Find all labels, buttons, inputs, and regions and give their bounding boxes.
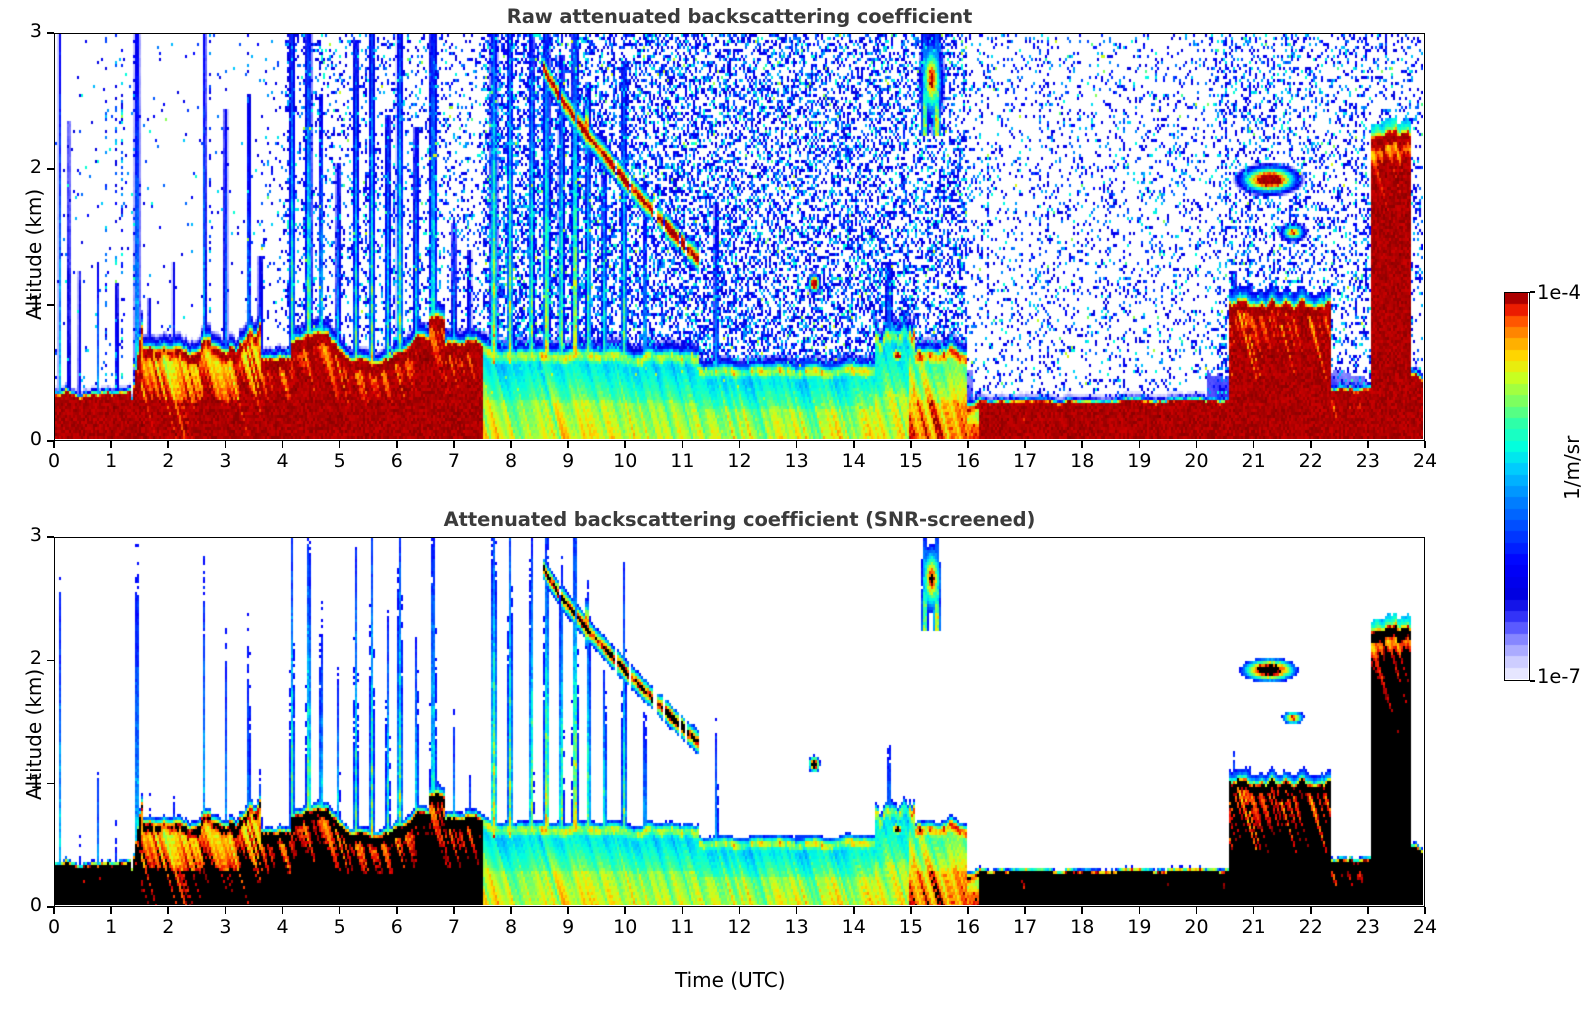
y-tick-label: 2 bbox=[8, 156, 42, 178]
x-tick-label: 17 bbox=[1003, 450, 1047, 472]
colorbar-tickmark-min bbox=[1530, 680, 1535, 681]
x-tick-label: 12 bbox=[718, 916, 762, 938]
x-tickmark bbox=[1081, 907, 1083, 914]
x-tickmark bbox=[1424, 441, 1426, 448]
x-tickmark bbox=[567, 441, 569, 448]
x-tick-label: 20 bbox=[1175, 450, 1219, 472]
x-tickmark bbox=[1196, 441, 1198, 448]
x-tickmark bbox=[1081, 441, 1083, 448]
y-tick-label: 3 bbox=[8, 20, 42, 42]
x-tickmark bbox=[967, 441, 969, 448]
x-tick-label: 16 bbox=[946, 916, 990, 938]
x-tickmark bbox=[1196, 907, 1198, 914]
x-tick-label: 18 bbox=[1060, 916, 1104, 938]
x-tick-label: 19 bbox=[1117, 450, 1161, 472]
y-tick-label: 1 bbox=[8, 771, 42, 793]
x-tick-label: 23 bbox=[1346, 450, 1390, 472]
x-tick-label: 1 bbox=[89, 450, 133, 472]
colorbar-unit-label: 1/m/sr bbox=[1560, 436, 1584, 500]
x-tick-label: 14 bbox=[832, 916, 876, 938]
x-tickmark bbox=[1024, 907, 1026, 914]
x-tick-label: 22 bbox=[1289, 916, 1333, 938]
x-tickmark bbox=[967, 907, 969, 914]
x-tickmark bbox=[396, 441, 398, 448]
y-tickmark bbox=[47, 32, 54, 34]
x-tick-label: 24 bbox=[1403, 450, 1447, 472]
x-tick-label: 15 bbox=[889, 916, 933, 938]
x-tick-label: 1 bbox=[89, 916, 133, 938]
x-tickmark bbox=[510, 441, 512, 448]
x-tick-label: 3 bbox=[203, 916, 247, 938]
x-tick-label: 10 bbox=[603, 916, 647, 938]
x-tick-label: 6 bbox=[375, 916, 419, 938]
x-tick-label: 3 bbox=[203, 450, 247, 472]
colorbar-min-label: 1e-7 bbox=[1537, 665, 1581, 688]
x-tickmark bbox=[1139, 907, 1141, 914]
x-tick-label: 12 bbox=[718, 450, 762, 472]
x-tick-label: 23 bbox=[1346, 916, 1390, 938]
x-tick-label: 0 bbox=[32, 450, 76, 472]
colorbar-gradient bbox=[1505, 293, 1528, 679]
x-tickmark bbox=[739, 441, 741, 448]
x-tick-label: 14 bbox=[832, 450, 876, 472]
x-tick-label: 7 bbox=[432, 450, 476, 472]
x-tickmark bbox=[682, 907, 684, 914]
colorbar-max-label: 1e-4 bbox=[1537, 281, 1581, 304]
y-tick-label: 2 bbox=[8, 647, 42, 669]
x-tick-label: 5 bbox=[318, 916, 362, 938]
x-tickmark bbox=[853, 907, 855, 914]
x-tickmark bbox=[1253, 441, 1255, 448]
x-tick-label: 8 bbox=[489, 916, 533, 938]
y-tick-label: 0 bbox=[8, 894, 42, 916]
x-tick-label: 11 bbox=[660, 916, 704, 938]
x-tick-label: 13 bbox=[775, 916, 819, 938]
x-tickmark bbox=[1367, 441, 1369, 448]
x-tick-label: 18 bbox=[1060, 450, 1104, 472]
x-tickmark bbox=[1310, 907, 1312, 914]
x-axis-label: Time (UTC) bbox=[675, 968, 786, 992]
x-tickmark bbox=[682, 441, 684, 448]
y-tickmark bbox=[47, 440, 54, 442]
x-tickmark bbox=[1024, 441, 1026, 448]
x-tickmark bbox=[110, 907, 112, 914]
x-tick-label: 5 bbox=[318, 450, 362, 472]
x-tickmark bbox=[1367, 907, 1369, 914]
x-tick-label: 6 bbox=[375, 450, 419, 472]
panel-title-screened: Attenuated backscattering coefficient (S… bbox=[54, 508, 1425, 531]
x-tickmark bbox=[167, 907, 169, 914]
x-tickmark bbox=[796, 441, 798, 448]
y-tickmark bbox=[47, 304, 54, 306]
x-tickmark bbox=[225, 907, 227, 914]
x-tick-label: 24 bbox=[1403, 916, 1447, 938]
x-tickmark bbox=[167, 441, 169, 448]
x-tickmark bbox=[1424, 907, 1426, 914]
x-tickmark bbox=[910, 907, 912, 914]
x-tickmark bbox=[510, 907, 512, 914]
x-tick-label: 15 bbox=[889, 450, 933, 472]
x-tick-label: 21 bbox=[1232, 916, 1276, 938]
x-tickmark bbox=[110, 441, 112, 448]
x-tick-label: 16 bbox=[946, 450, 990, 472]
x-tick-label: 4 bbox=[261, 450, 305, 472]
x-tick-label: 9 bbox=[546, 916, 590, 938]
x-tickmark bbox=[739, 907, 741, 914]
y-tickmark bbox=[47, 906, 54, 908]
x-tick-label: 9 bbox=[546, 450, 590, 472]
colorbar-tickmark-max bbox=[1530, 291, 1535, 292]
x-tickmark bbox=[910, 441, 912, 448]
y-tick-label: 3 bbox=[8, 524, 42, 546]
x-tickmark bbox=[339, 441, 341, 448]
x-tick-label: 2 bbox=[146, 450, 190, 472]
x-tick-label: 2 bbox=[146, 916, 190, 938]
plot-area-raw[interactable] bbox=[54, 33, 1425, 441]
x-tick-label: 19 bbox=[1117, 916, 1161, 938]
x-tickmark bbox=[396, 907, 398, 914]
x-tick-label: 4 bbox=[261, 916, 305, 938]
x-tick-label: 8 bbox=[489, 450, 533, 472]
y-tickmark bbox=[47, 168, 54, 170]
x-tickmark bbox=[796, 907, 798, 914]
x-tickmark bbox=[1253, 907, 1255, 914]
colorbar[interactable] bbox=[1504, 292, 1530, 681]
x-tick-label: 20 bbox=[1175, 916, 1219, 938]
x-tick-label: 10 bbox=[603, 450, 647, 472]
heatmap-raw bbox=[55, 34, 1423, 439]
x-tickmark bbox=[453, 441, 455, 448]
x-tickmark bbox=[53, 907, 55, 914]
y-tickmark bbox=[47, 660, 54, 662]
x-tick-label: 7 bbox=[432, 916, 476, 938]
x-tickmark bbox=[624, 441, 626, 448]
y-tickmark bbox=[47, 536, 54, 538]
y-tickmark bbox=[47, 783, 54, 785]
x-tickmark bbox=[225, 441, 227, 448]
x-tickmark bbox=[453, 907, 455, 914]
x-tickmark bbox=[624, 907, 626, 914]
x-tick-label: 21 bbox=[1232, 450, 1276, 472]
x-tick-label: 22 bbox=[1289, 450, 1333, 472]
x-tickmark bbox=[567, 907, 569, 914]
x-tickmark bbox=[282, 441, 284, 448]
x-tickmark bbox=[853, 441, 855, 448]
x-tickmark bbox=[1310, 441, 1312, 448]
x-tick-label: 13 bbox=[775, 450, 819, 472]
y-tick-label: 0 bbox=[8, 428, 42, 450]
x-tick-label: 17 bbox=[1003, 916, 1047, 938]
figure-canvas: Raw attenuated backscattering coefficien… bbox=[0, 0, 1595, 1020]
panel-title-raw: Raw attenuated backscattering coefficien… bbox=[54, 5, 1425, 28]
x-tickmark bbox=[1139, 441, 1141, 448]
x-tick-label: 0 bbox=[32, 916, 76, 938]
plot-area-screened[interactable] bbox=[54, 537, 1425, 907]
x-tick-label: 11 bbox=[660, 450, 704, 472]
x-tickmark bbox=[339, 907, 341, 914]
x-tickmark bbox=[53, 441, 55, 448]
heatmap-screened bbox=[55, 538, 1423, 905]
y-tick-label: 1 bbox=[8, 292, 42, 314]
x-tickmark bbox=[282, 907, 284, 914]
